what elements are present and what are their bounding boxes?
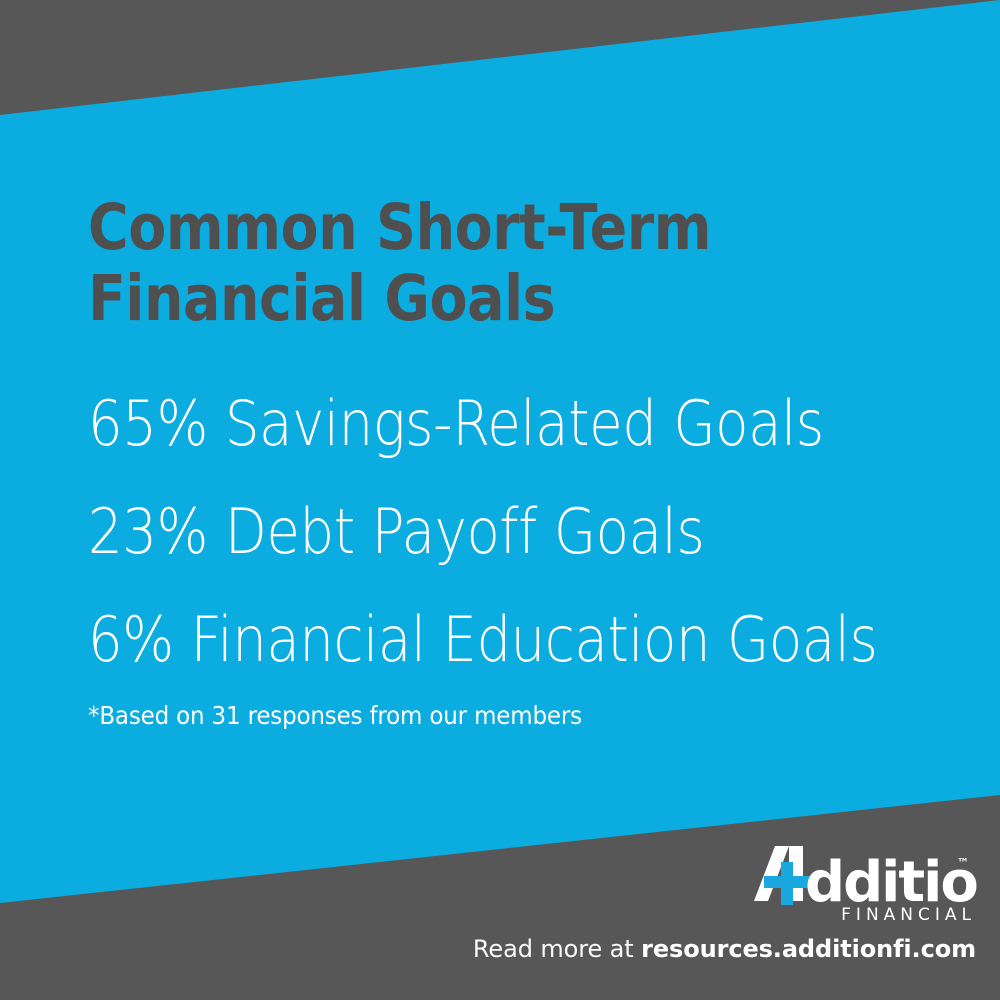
stats-list: 65% Savings-Related Goals 23% Debt Payof…	[88, 370, 948, 694]
stat-row-savings: 65% Savings-Related Goals	[88, 370, 845, 478]
read-more-label: Read more at	[473, 935, 641, 963]
read-more-line: Read more at resources.additionfi.com	[473, 934, 976, 964]
logo-svg: ddition ™ FINANCIAL	[752, 846, 978, 924]
website-url[interactable]: resources.additionfi.com	[641, 935, 976, 963]
page-title: Common Short-Term Financial Goals	[88, 192, 774, 334]
stat-row-debt-payoff: 23% Debt Payoff Goals	[88, 478, 845, 586]
logo-subtext: FINANCIAL	[841, 905, 976, 924]
stat-row-financial-education: 6% Financial Education Goals	[88, 586, 845, 694]
logo-a-glyph	[754, 846, 803, 901]
footnote-text: *Based on 31 responses from our members	[88, 700, 582, 732]
addition-financial-logo: ddition ™ FINANCIAL	[752, 846, 978, 924]
trademark-symbol: ™	[957, 856, 969, 870]
infographic-canvas: Common Short-Term Financial Goals 65% Sa…	[0, 0, 1000, 1000]
